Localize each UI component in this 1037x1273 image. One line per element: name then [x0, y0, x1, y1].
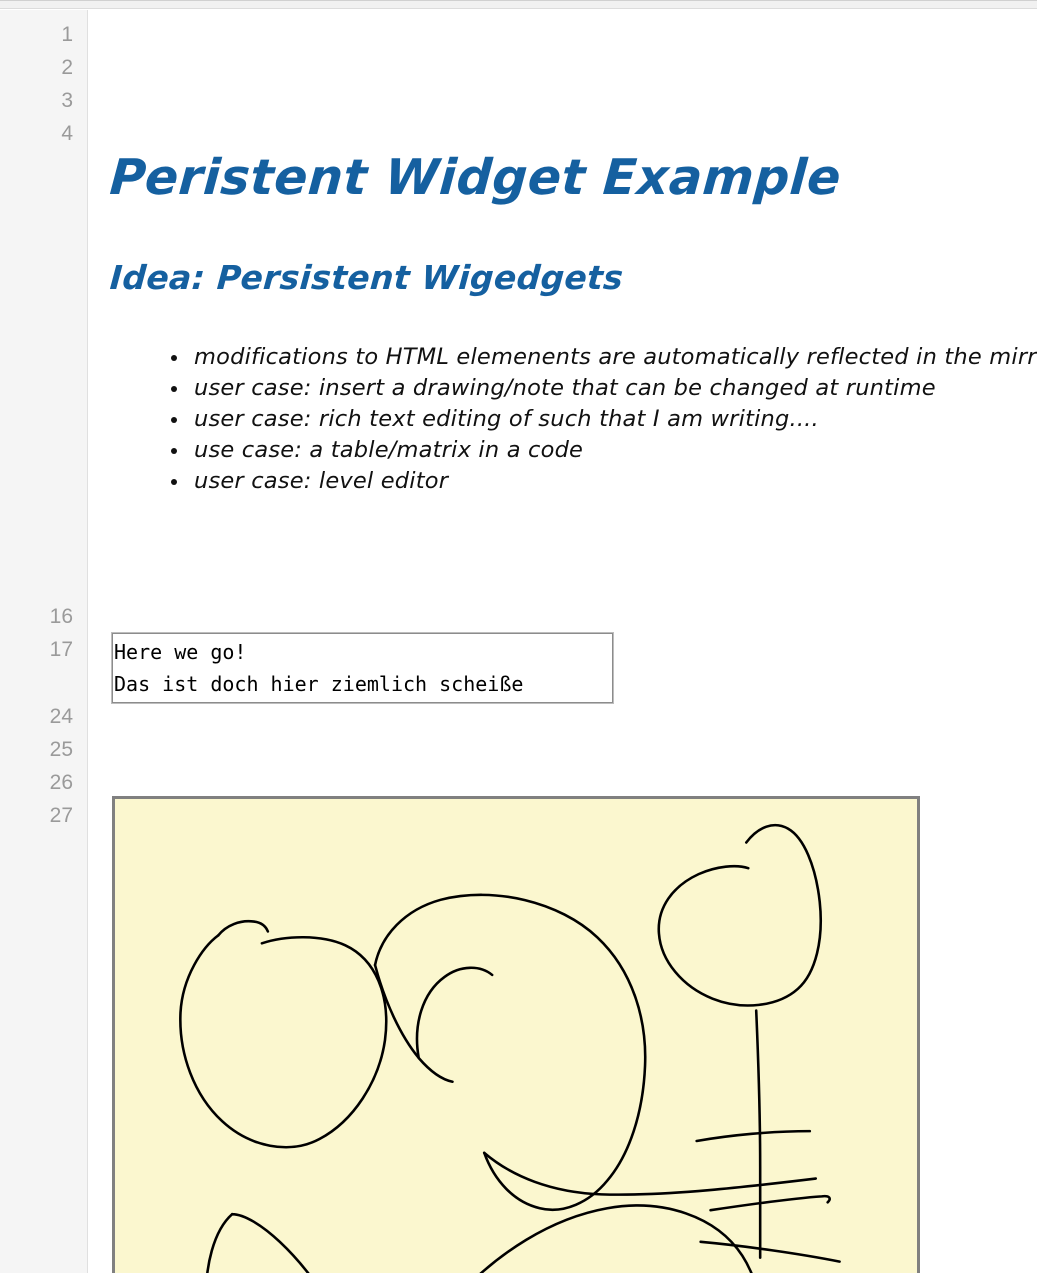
line-number: 3 — [13, 90, 73, 111]
line-number: 17 — [13, 639, 73, 660]
bullet-list: modifications to HTML elemenents are aut… — [164, 342, 1037, 497]
line-number: 25 — [13, 739, 73, 760]
page-title: Peristent Widget Example — [108, 149, 843, 206]
list-item: user case: insert a drawing/note that ca… — [164, 373, 1037, 404]
list-item: user case: level editor — [164, 466, 1037, 497]
persistent-text-widget[interactable]: Here we go! Das ist doch hier ziemlich s… — [112, 633, 613, 703]
line-number: 2 — [13, 57, 73, 78]
line-number: 4 — [13, 123, 73, 144]
line-number: 24 — [13, 706, 73, 727]
line-number: 16 — [13, 606, 73, 627]
list-item: use case: a table/matrix in a code — [164, 435, 1037, 466]
section-heading: Idea: Persistent Wigedgets — [109, 258, 625, 297]
drawing-canvas[interactable] — [115, 799, 917, 1273]
line-number-gutter: 1 2 3 4 16 17 24 25 26 27 — [0, 10, 88, 1273]
document-preview-pane[interactable]: Peristent Widget Example Idea: Persisten… — [92, 10, 1037, 1273]
list-item: modifications to HTML elemenents are aut… — [164, 342, 1037, 373]
line-number: 26 — [13, 772, 73, 793]
editor-chrome-strip — [0, 0, 1037, 9]
editor-window: 1 2 3 4 16 17 24 25 26 27 Peristent Widg… — [0, 0, 1037, 1273]
line-number: 27 — [13, 805, 73, 826]
list-item: user case: rich text editing of such tha… — [164, 404, 1037, 435]
line-number: 1 — [13, 24, 73, 45]
persistent-drawing-widget[interactable] — [112, 796, 920, 1273]
